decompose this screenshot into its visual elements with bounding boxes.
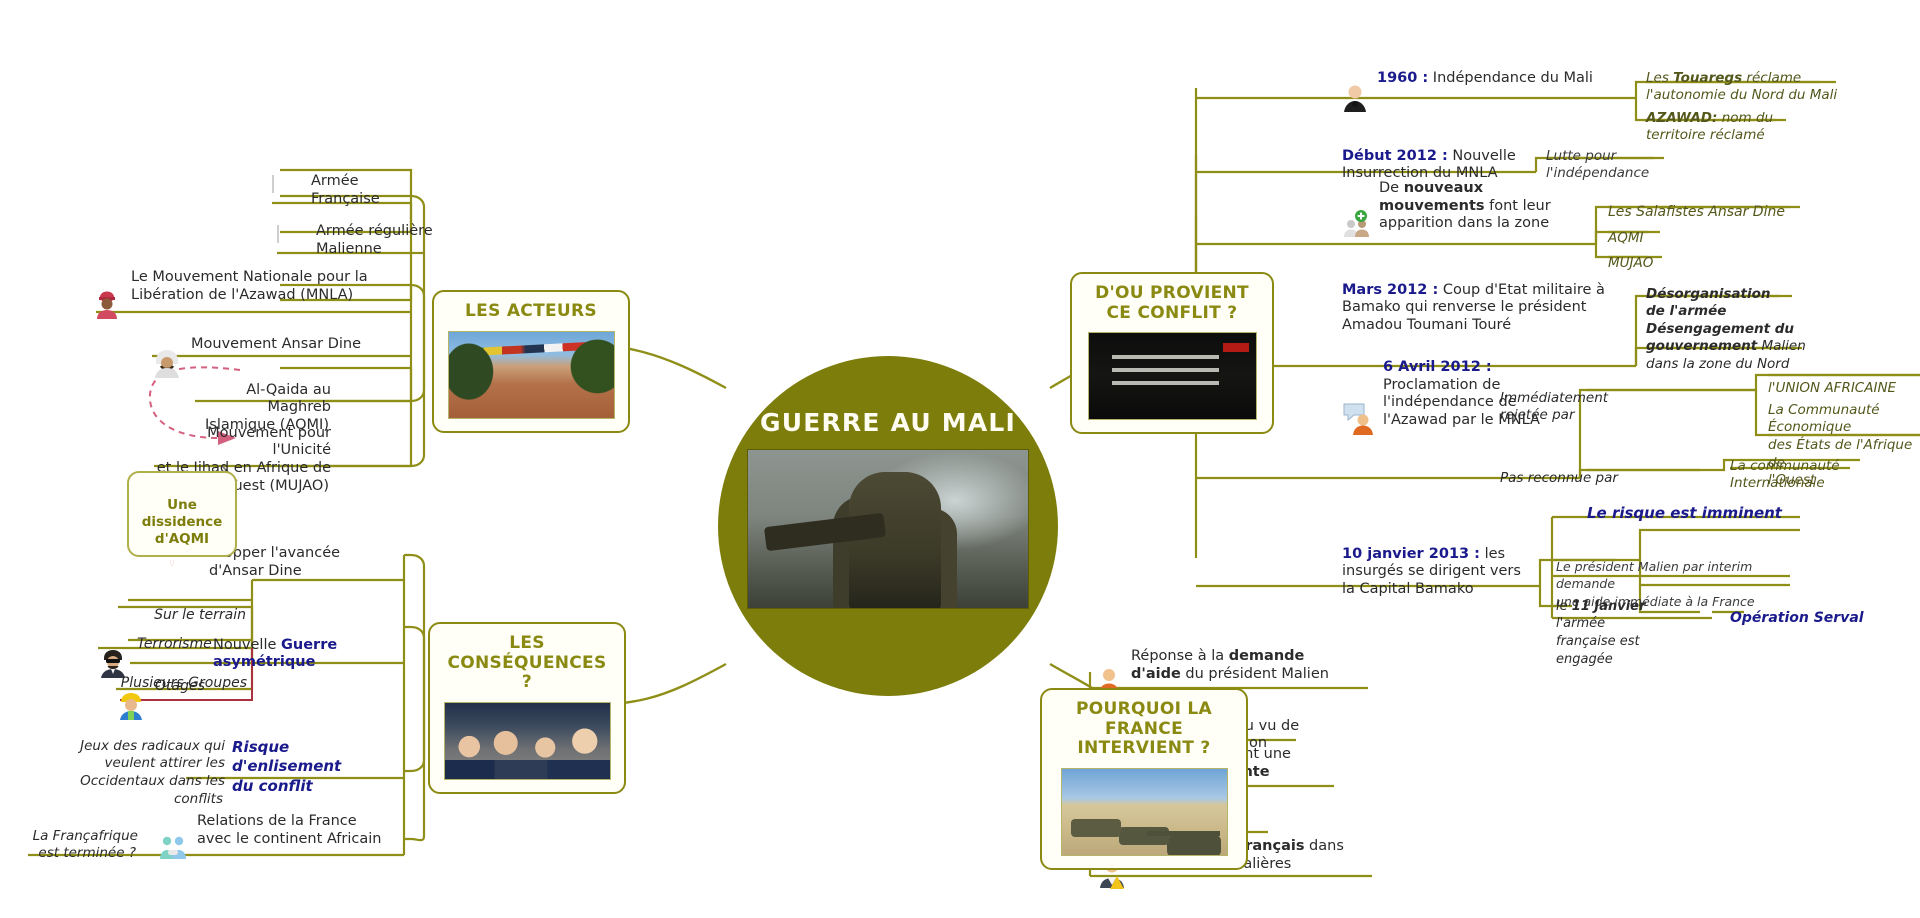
turban-man-icon [152, 330, 182, 360]
man-red-hat-icon [92, 272, 122, 302]
leaf-reponse-demande-aide[interactable]: Réponse à la demanded'aide du président … [1090, 648, 1329, 683]
leaf-mnla[interactable]: Le Mouvement Nationale pour la Libératio… [92, 268, 370, 305]
soldier-photo [747, 449, 1029, 609]
leaf-risque-enlisement[interactable]: Risque d'enlisement du conflit [232, 720, 352, 797]
leaf-nouveaux-mouvements[interactable]: De nouveauxmouvements font leurapparitio… [1342, 180, 1600, 233]
person-reading-icon [1090, 649, 1124, 683]
mindmap-canvas: GUERRE AU MALI LES ACTEURS D'OU PROVIENT… [0, 0, 1920, 918]
sub-immediatement-rejetee[interactable]: Immédiatementrejetée par [1500, 372, 1622, 425]
branch-conflit-title: D'OU PROVIENT CE CONFLIT ? [1084, 284, 1260, 323]
branch-france-title: POURQUOI LA FRANCE INTERVIENT ? [1054, 700, 1234, 759]
central-node[interactable]: GUERRE AU MALI [718, 356, 1058, 696]
leaf-armee-malienne[interactable]: Armée régulière Malienne [277, 222, 435, 259]
leaf-debut-2012[interactable]: Début 2012 : Nouvelle Insurrection du MN… [1342, 130, 1538, 183]
sub-risque-imminent[interactable]: Le risque est imminent [1552, 500, 1782, 526]
hostage-worker-icon [116, 672, 146, 702]
sub-azawad[interactable]: AZAWAD: nom duterritoire réclamé [1646, 92, 1796, 145]
branch-acteurs-title: LES ACTEURS [465, 302, 597, 322]
leaf-1960-text: 1960 : Indépendance du Mali [1377, 70, 1593, 88]
branch-consequences-title: LES CONSÉQUENCES ? [442, 634, 612, 693]
leaf-ansar-dine[interactable]: Mouvement Ansar Dine [152, 330, 363, 360]
hollande-merkel-summit-photo [444, 702, 611, 780]
armored-vehicles-desert-photo [1061, 768, 1228, 856]
leaf-otages[interactable]: Otages [116, 672, 207, 702]
callout-text: Une dissidence d'AQMI [142, 497, 223, 547]
leaf-sur-le-terrain[interactable]: Sur le terrain [118, 589, 248, 624]
sub-pas-reconnue[interactable]: Pas reconnue par [1500, 452, 1630, 487]
bald-man-icon [1340, 64, 1370, 94]
sub-11-janvier-text: le 11 Janvier l'arméefrançaise est engag… [1556, 599, 1645, 667]
mali-street-flags-photo [448, 331, 615, 419]
page-title: GUERRE AU MALI [760, 408, 1016, 437]
handshake-icon [158, 816, 188, 846]
leaf-debut-2012-text: Début 2012 : Nouvelle Insurrection du MN… [1342, 148, 1516, 182]
terrorist-man-icon [98, 630, 128, 660]
mali-flag-icon [277, 226, 307, 256]
branch-conflit[interactable]: D'OU PROVIENT CE CONFLIT ? [1070, 272, 1274, 434]
branch-france[interactable]: POURQUOI LA FRANCE INTERVIENT ? [1040, 688, 1248, 870]
sub-lutte-text: Lutte pourl'indépendance [1546, 148, 1649, 182]
leaf-mars-2012[interactable]: Mars 2012 : Coup d'Etat militaire à Bama… [1342, 264, 1612, 335]
leaf-relations-france-afrique[interactable]: Relations de la France avec le continent… [158, 812, 383, 849]
sub-lutte-independance[interactable]: Lutte pourl'indépendance [1546, 130, 1668, 183]
leaf-10-janvier-2013[interactable]: 10 janvier 2013 : les insurgés se dirige… [1342, 528, 1542, 599]
jihadist-flag-photo [1088, 332, 1257, 420]
france-flag-icon [272, 176, 302, 206]
callout-dissidence-aqmi[interactable]: Une dissidence d'AQMI [127, 471, 237, 557]
warning-triangle-icon [1552, 500, 1580, 526]
leaf-risque-note[interactable]: Jeux des radicaux qui veulent attirer le… [30, 720, 225, 808]
speech-person-icon [1342, 383, 1376, 417]
leaf-terrorisme[interactable]: Terrorisme [98, 630, 214, 660]
leaf-mars-2012-text: Mars 2012 : Coup d'Etat militaire à Bama… [1342, 282, 1605, 333]
branch-consequences[interactable]: LES CONSÉQUENCES ? [428, 622, 626, 794]
leaf-francafrique-note[interactable]: La Françafrique est terminée ? [28, 810, 138, 863]
sub-11-janvier-armee[interactable]: le 11 Janvier l'arméefrançaise est engag… [1556, 580, 1696, 668]
leaf-nouveaux-mouvements-text: De nouveauxmouvements font leurapparitio… [1379, 180, 1551, 233]
branch-acteurs[interactable]: LES ACTEURS [432, 290, 630, 433]
sub-operation-serval[interactable]: Opération Serval [1730, 592, 1880, 627]
leaf-reponse-text: Réponse à la demanded'aide du président … [1131, 648, 1329, 683]
new-movements-icon [1342, 192, 1372, 222]
leaf-1960-independance[interactable]: 1960 : Indépendance du Mali [1340, 64, 1593, 94]
sub-communaute-internationale[interactable]: La communautéInternationale [1730, 440, 1890, 493]
leaf-10-janvier-text: 10 janvier 2013 : les insurgés se dirige… [1342, 546, 1521, 597]
leaf-armee-francaise[interactable]: Armée Française [272, 172, 382, 209]
